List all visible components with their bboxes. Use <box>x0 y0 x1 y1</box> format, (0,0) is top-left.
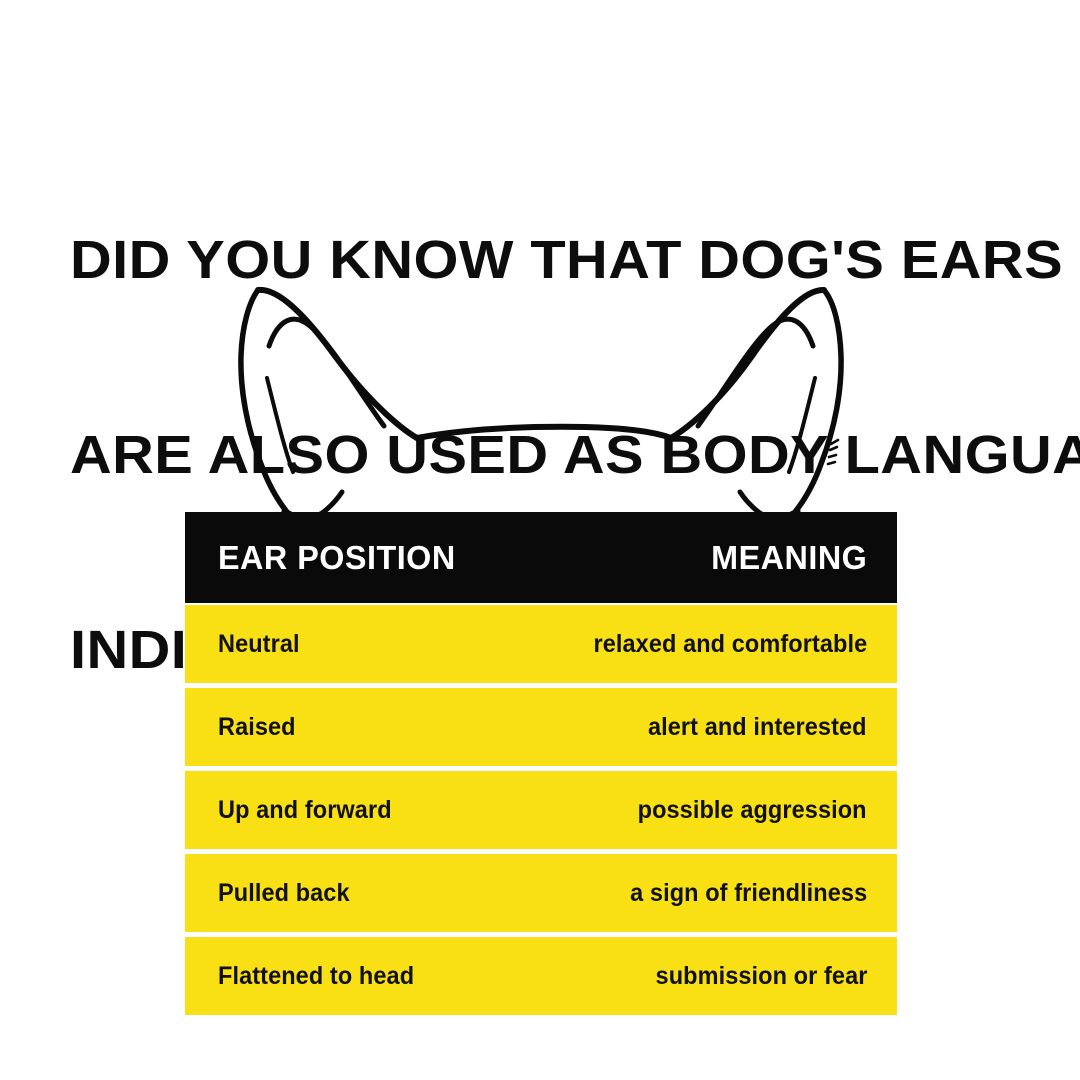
table-row: Neutral relaxed and comfortable <box>185 605 897 683</box>
cell-meaning: a sign of friendliness <box>630 879 867 908</box>
cell-meaning: submission or fear <box>655 962 867 991</box>
left-ear-crease <box>267 378 293 472</box>
left-ear-front-edge <box>258 290 417 438</box>
column-header-meaning: MEANING <box>711 539 867 577</box>
table-header-row: EAR POSITION MEANING <box>185 512 897 603</box>
right-ear-crease <box>789 378 815 472</box>
column-header-ear-position: EAR POSITION <box>218 539 456 577</box>
right-ear-inner-line <box>698 319 813 426</box>
cell-ear-position: Up and forward <box>218 796 392 825</box>
left-ear-inner-line <box>269 319 384 426</box>
head-top-curve <box>417 427 671 438</box>
table-body: Neutral relaxed and comfortable Raised a… <box>185 603 897 1015</box>
right-ear-front-edge <box>671 290 824 438</box>
cell-meaning: relaxed and comfortable <box>593 630 867 659</box>
table-row: Raised alert and interested <box>185 688 897 766</box>
cell-ear-position: Flattened to head <box>218 962 414 991</box>
infographic-canvas: DID YOU KNOW THAT DOG'S EARS ARE ALSO US… <box>0 0 1080 1080</box>
cell-ear-position: Raised <box>218 713 296 742</box>
table-row: Flattened to head submission or fear <box>185 937 897 1015</box>
table-row: Up and forward possible aggression <box>185 771 897 849</box>
cell-ear-position: Neutral <box>218 630 300 659</box>
dog-ears-illustration <box>225 268 855 523</box>
table-row: Pulled back a sign of friendliness <box>185 854 897 932</box>
cell-ear-position: Pulled back <box>218 879 350 908</box>
cell-meaning: possible aggression <box>638 796 867 825</box>
ear-position-meaning-table: EAR POSITION MEANING Neutral relaxed and… <box>185 512 897 1015</box>
cell-meaning: alert and interested <box>648 713 867 742</box>
